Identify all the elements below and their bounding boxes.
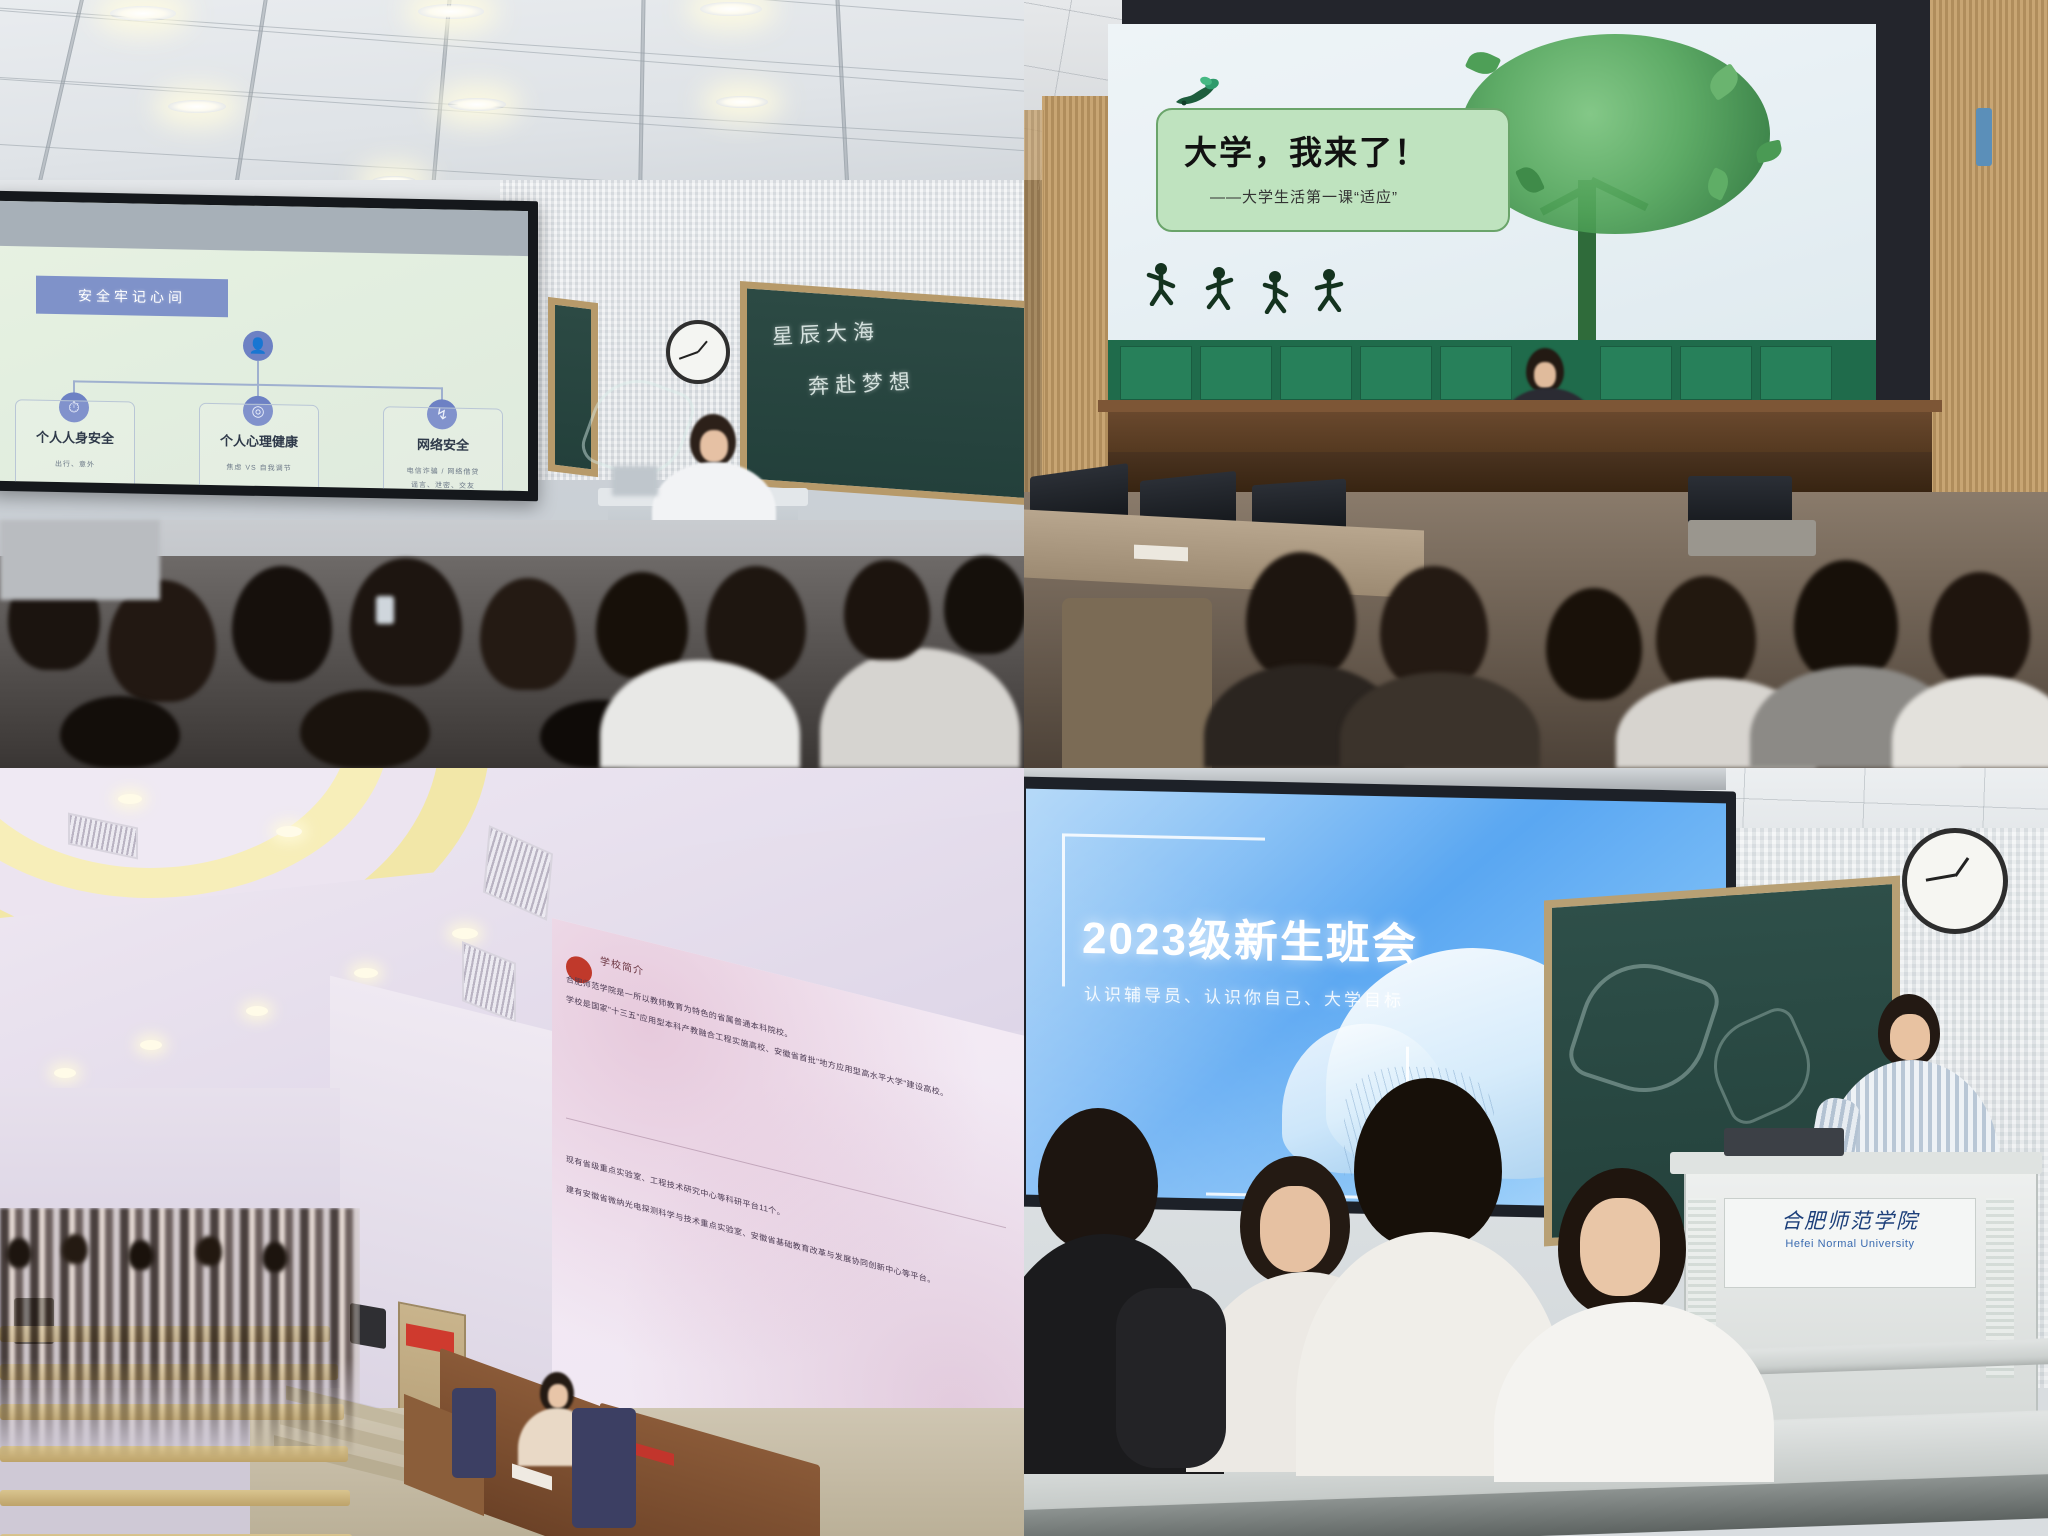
- chair-back: [1062, 598, 1212, 768]
- audience-head: [62, 1234, 88, 1264]
- card-title: 个人人身安全: [16, 426, 134, 447]
- lectern-device: [1724, 1128, 1844, 1156]
- audience-head: [844, 560, 930, 660]
- ceiling-light: [716, 96, 768, 108]
- stage-desk-edge: [1098, 400, 1942, 412]
- audience-head: [480, 578, 576, 690]
- slide-title: 2023级新生班会: [1082, 902, 1418, 973]
- card-title: 网络安全: [384, 433, 502, 454]
- stage-panel: [1600, 346, 1672, 400]
- teacher-face: [1890, 1014, 1930, 1060]
- student-arm: [1116, 1288, 1226, 1468]
- panel-freshman-class-meeting: 2023级新生班会 认识辅导员、认识你自己、大学目标 合肥师范学院 Hefei …: [1024, 768, 2048, 1536]
- speaker-face: [1534, 362, 1556, 388]
- ceiling-light: [54, 1068, 76, 1078]
- fairy-icon: [1172, 76, 1224, 110]
- blackboard-chalk-line1: 星辰大海: [771, 315, 880, 351]
- wall-clock: [666, 320, 730, 384]
- ceiling-light: [276, 826, 302, 837]
- student-face: [1260, 1186, 1330, 1272]
- audience-head: [944, 556, 1024, 654]
- paper-on-desk: [1134, 545, 1188, 562]
- audience-head: [262, 1242, 288, 1272]
- ceiling-light: [354, 968, 378, 978]
- projection-screen: 安全牢记心间 👤 ⏱ ◎ ↯ 个人人身安全 出行、意外 个人心理健康: [0, 201, 528, 491]
- slide-card: 个人心理健康 焦虑 VS 自我调节: [199, 403, 319, 491]
- wood-wall-right: [1930, 0, 2048, 520]
- slide-subtitle: ——大学生活第一课“适应”: [1210, 186, 1508, 207]
- chair: [452, 1388, 496, 1478]
- runner-silhouette: [1204, 266, 1234, 310]
- blackboard-chalk-line2: 奔赴梦想: [807, 365, 916, 401]
- slide-card: 网络安全 电信诈骗 / 网络借贷 谣言、泄密、交友: [383, 406, 503, 491]
- audience-head: [128, 1240, 154, 1270]
- runner-silhouette: [1260, 270, 1290, 314]
- chair: [572, 1408, 636, 1528]
- stage-panel: [1440, 346, 1512, 400]
- audience-crowd: [0, 1208, 360, 1458]
- ceiling-light: [700, 2, 762, 16]
- card-sub: 电信诈骗 / 网络借贷: [384, 465, 502, 477]
- ceiling-light: [452, 928, 478, 939]
- card-sub: 焦虑 VS 自我调节: [200, 462, 318, 474]
- ceiling-light: [110, 6, 176, 21]
- monitor-on-lectern: [612, 466, 658, 496]
- slide-title: 大学，我来了！: [1184, 126, 1508, 174]
- device-box: [1688, 520, 1816, 556]
- stage-panel: [1360, 346, 1432, 400]
- projection-screen-frame: 安全牢记心间 👤 ⏱ ◎ ↯ 个人人身安全 出行、意外 个人心理健康: [0, 191, 538, 502]
- audience-head: [1546, 588, 1642, 700]
- audience-head: [1794, 560, 1898, 682]
- stage-panel: [1120, 346, 1192, 400]
- stage-panel: [1680, 346, 1752, 400]
- stage-panel: [1280, 346, 1352, 400]
- ceiling-light: [118, 794, 142, 804]
- fairy-svg: [1172, 76, 1224, 110]
- slide-banner-text: 安全牢记心间: [36, 276, 228, 318]
- ceiling-light: [140, 1040, 162, 1050]
- ceiling-light: [448, 98, 506, 111]
- runner-silhouette: [1146, 262, 1176, 306]
- slide-banner: 安全牢记心间: [36, 276, 228, 318]
- connector-line: [257, 361, 259, 385]
- student-face: [1580, 1198, 1660, 1296]
- person-icon: 👤: [243, 331, 273, 362]
- panel-lecture-hall-assembly: 学校简介 合肥师范学院是一所以教师教育为特色的省属普通本科院校。 学校是国家"十…: [0, 768, 1024, 1536]
- podium-nameplate: 合肥师范学院 Hefei Normal University: [1724, 1198, 1976, 1288]
- runner-silhouette: [1314, 268, 1344, 312]
- screen-header-band: [0, 201, 528, 256]
- ceiling-light: [168, 100, 226, 113]
- audience-head: [1930, 572, 2030, 688]
- slide-title-bubble: 大学，我来了！ ——大学生活第一课“适应”: [1156, 108, 1510, 232]
- wood-column: [1024, 110, 1044, 510]
- ceiling-light: [246, 1006, 268, 1016]
- nameplate-cn: 合肥师范学院: [1725, 1205, 1975, 1235]
- panel-auditorium-welcome-lecture: 大学，我来了！ ——大学生活第一课“适应”: [1024, 0, 2048, 768]
- phone-screen: [376, 596, 394, 624]
- stage-panel: [1760, 346, 1832, 400]
- projection-screen: 大学，我来了！ ——大学生活第一课“适应”: [1108, 24, 1876, 354]
- speaker-face: [700, 430, 728, 462]
- wall-speaker-right: [1976, 108, 1992, 166]
- audience-head: [6, 1238, 32, 1268]
- ceiling-light: [418, 4, 484, 19]
- audience-head: [60, 696, 180, 768]
- audience-head: [232, 566, 332, 682]
- audience-head: [1246, 552, 1356, 680]
- panelist-face: [548, 1384, 568, 1408]
- seat-row: [0, 1490, 350, 1506]
- card-sub2: 谣言、泄密、交友: [384, 479, 502, 491]
- stage-panel: [1200, 346, 1272, 400]
- wall-clock: [1902, 828, 2008, 934]
- dark-wall: [1876, 0, 1932, 420]
- photo-collage: 安全牢记心间 👤 ⏱ ◎ ↯ 个人人身安全 出行、意外 个人心理健康: [0, 0, 2048, 1536]
- audience-head: [1656, 576, 1756, 694]
- card-sub: 出行、意外: [16, 458, 134, 470]
- audience-head: [196, 1236, 222, 1266]
- audience-head: [300, 690, 430, 768]
- panel-classroom-safety-lecture: 安全牢记心间 👤 ⏱ ◎ ↯ 个人人身安全 出行、意外 个人心理健康: [0, 0, 1024, 768]
- audience-head: [350, 558, 462, 686]
- slide-card: 个人人身安全 出行、意外: [15, 399, 135, 491]
- card-title: 个人心理健康: [200, 430, 318, 451]
- nameplate-en: Hefei Normal University: [1725, 1238, 1975, 1250]
- audience-row-front: [0, 520, 160, 600]
